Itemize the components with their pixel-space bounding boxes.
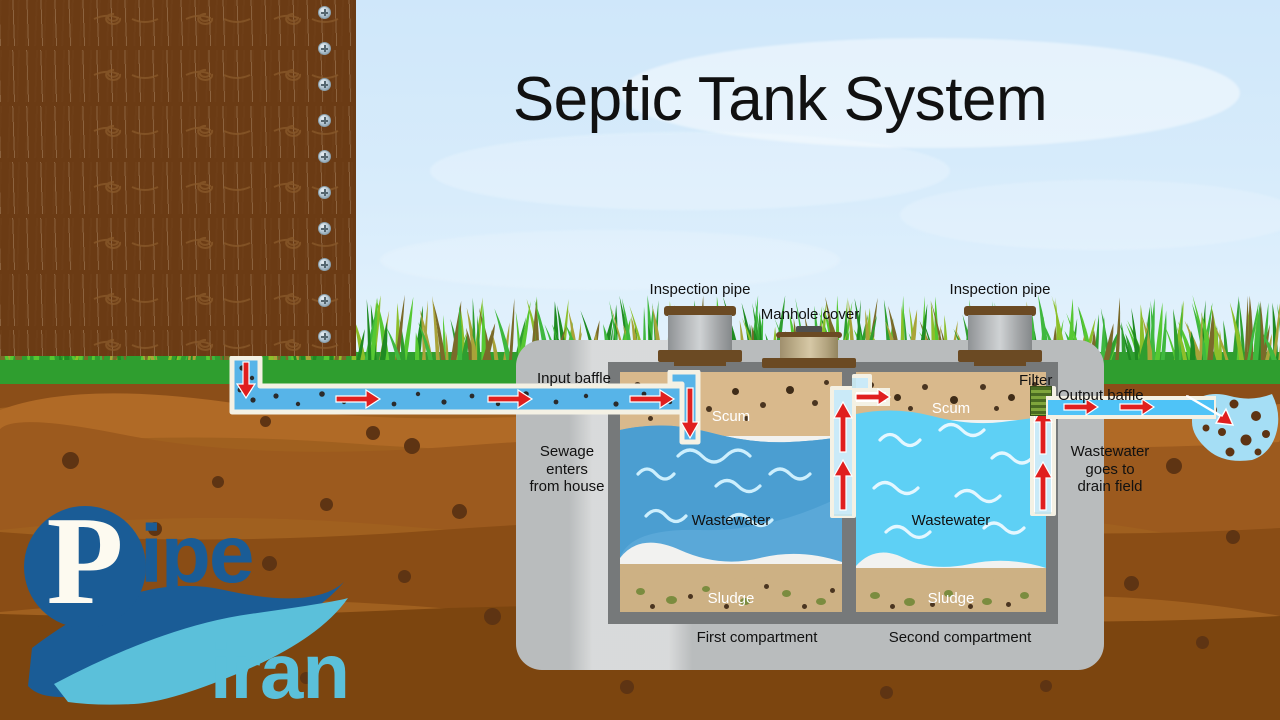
wastewater-label-first: Wastewater xyxy=(620,512,842,529)
label-output-baffle: Output baffle xyxy=(1058,387,1144,405)
screw-icon xyxy=(318,258,331,271)
screw-icon xyxy=(318,78,331,91)
label-sewage-enters-from-house: Sewage enters from house xyxy=(507,443,627,496)
label-first-compartment: First compartment xyxy=(657,629,857,647)
soil-stone xyxy=(620,680,634,694)
label-manhole-cover: Manhole cover xyxy=(710,306,910,324)
label-line: Sewage xyxy=(507,443,627,461)
screw-icon xyxy=(318,294,331,307)
soil-stone xyxy=(452,504,467,519)
inspection-pipe-right[interactable] xyxy=(958,306,1042,362)
soil-stone xyxy=(398,570,411,583)
soil-stone xyxy=(212,476,224,488)
soil-stone xyxy=(1040,680,1052,692)
page-title: Septic Tank System xyxy=(430,64,1130,135)
soil-stone xyxy=(404,438,420,454)
soil-stone xyxy=(880,686,893,699)
manhole-cover[interactable] xyxy=(762,326,856,368)
logo-word-iran: iran xyxy=(210,626,349,717)
illustration-root: Septic Tank System xyxy=(0,0,1280,720)
screw-icon xyxy=(318,186,331,199)
sludge-label-second: Sludge xyxy=(856,590,1046,607)
label-line: Wastewater xyxy=(1050,443,1170,461)
soil-stone xyxy=(62,452,79,469)
soil-stone xyxy=(484,608,501,625)
inlet-pipe-from-house xyxy=(226,356,686,422)
label-line: enters xyxy=(507,461,627,479)
input-baffle xyxy=(660,370,708,448)
logo-word-ipe: ipe xyxy=(140,508,252,602)
cloud-shape xyxy=(900,180,1280,250)
house-wood-wall xyxy=(0,0,356,356)
transfer-baffle xyxy=(824,368,892,518)
drain-field-flow-arrow xyxy=(1186,390,1250,434)
riser-collar xyxy=(974,358,1026,366)
label-inspection-pipe-right: Inspection pipe xyxy=(900,281,1100,299)
screw-icon xyxy=(318,114,331,127)
riser-collar xyxy=(674,358,726,366)
screw-icon xyxy=(318,6,331,19)
wastewater-layer xyxy=(620,412,842,578)
screw-icon xyxy=(318,150,331,163)
soil-stone xyxy=(1226,530,1240,544)
soil-stone xyxy=(1196,636,1209,649)
logo-letter-p: P xyxy=(24,492,146,637)
label-input-baffle: Input baffle xyxy=(537,370,611,388)
screw-icon xyxy=(318,42,331,55)
label-line: goes to xyxy=(1050,461,1170,479)
sludge-label-first: Sludge xyxy=(620,590,842,607)
label-filter: Filter xyxy=(1019,372,1052,390)
screw-icon xyxy=(318,222,331,235)
label-inspection-pipe-left: Inspection pipe xyxy=(600,281,800,299)
label-wastewater-goes-to-drain-field: Wastewater goes to drain field xyxy=(1050,443,1170,496)
soil-stone xyxy=(1124,576,1139,591)
manhole-base xyxy=(762,358,856,368)
screw-icon xyxy=(318,330,331,343)
logo-pipe-iran: P ipe iran xyxy=(14,498,364,712)
label-line: from house xyxy=(507,478,627,496)
soil-stone xyxy=(366,426,380,440)
riser-body xyxy=(968,315,1032,353)
cloud-shape xyxy=(430,132,950,210)
label-second-compartment: Second compartment xyxy=(851,629,1069,647)
label-line: drain field xyxy=(1050,478,1170,496)
